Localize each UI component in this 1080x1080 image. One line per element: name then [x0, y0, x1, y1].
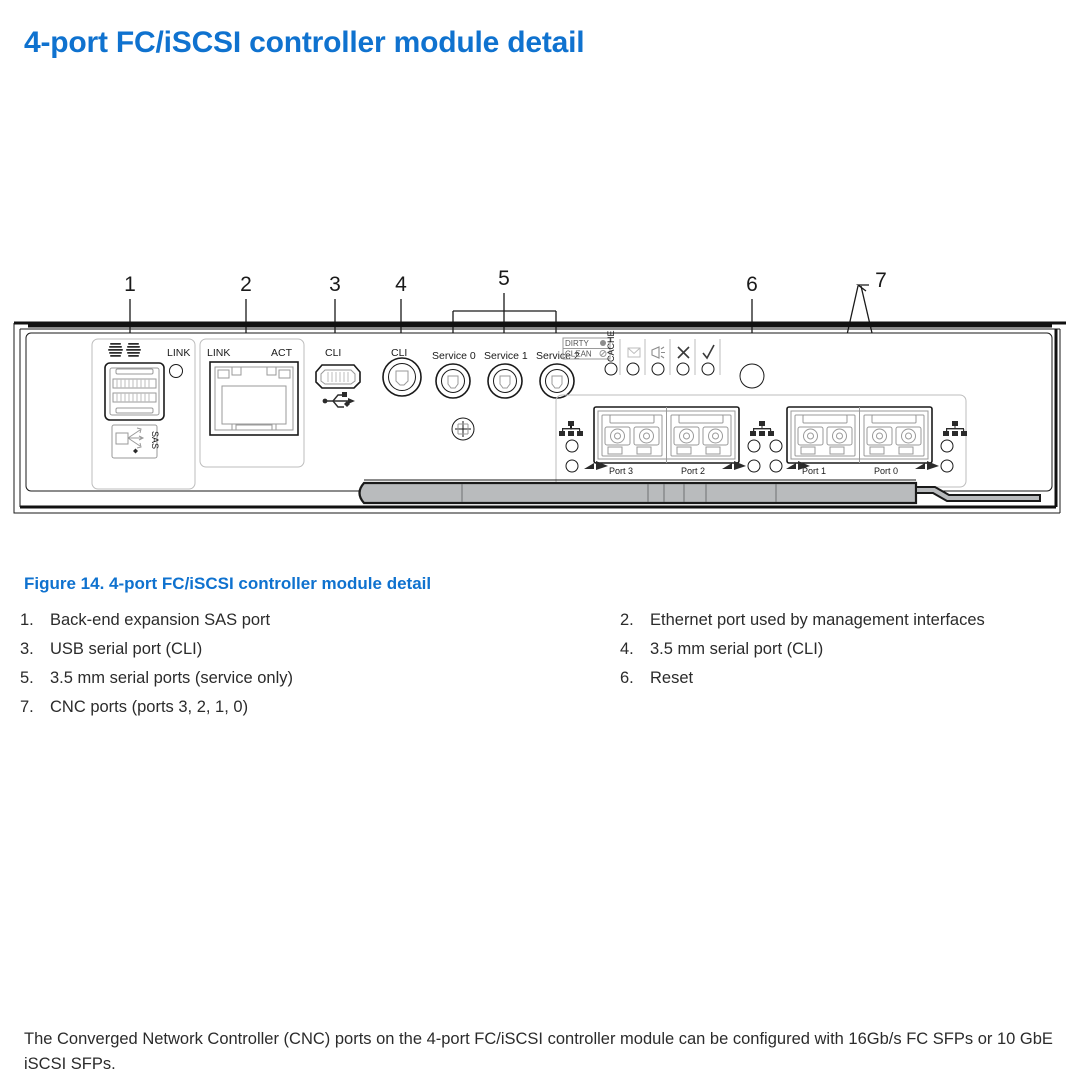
- callout-label-4: 4: [395, 273, 407, 296]
- legend-text: 3.5 mm serial ports (service only): [50, 664, 293, 693]
- cnc-port-3-label: Port 3: [609, 466, 633, 476]
- cnc-port-0-label: Port 0: [874, 466, 898, 476]
- list-item: 3. USB serial port (CLI): [20, 635, 600, 664]
- service-1-jack[interactable]: [488, 364, 522, 398]
- service-2-jack[interactable]: [540, 364, 574, 398]
- legend-column-right: 2. Ethernet port used by management inte…: [620, 606, 1080, 693]
- panel-screw-icon: [452, 418, 474, 440]
- callout-label-2: 2: [240, 273, 252, 296]
- cnc-port-1-label: Port 1: [802, 466, 826, 476]
- legend-text: Back-end expansion SAS port: [50, 606, 270, 635]
- legend-number: 6.: [620, 664, 650, 693]
- usb-cli-label: CLI: [325, 347, 341, 359]
- serial-cli-label: CLI: [391, 347, 407, 359]
- service-1-label: Service 1: [484, 350, 528, 362]
- figure-image: .ln { fill:none; stroke:#1a1a1a; stroke-…: [0, 255, 1080, 545]
- ethernet-act-label: ACT: [271, 347, 293, 359]
- legend-column-left: 1. Back-end expansion SAS port 3. USB se…: [20, 606, 600, 722]
- sas-badge-label: SAS: [150, 431, 160, 449]
- legend-text: 3.5 mm serial port (CLI): [650, 635, 823, 664]
- cnc-configuration-note: The Converged Network Controller (CNC) p…: [24, 1027, 1064, 1077]
- list-item: 2. Ethernet port used by management inte…: [620, 606, 1080, 635]
- cache-label: CACHE: [606, 330, 616, 362]
- cnc-sfp-cage-right[interactable]: [787, 407, 932, 463]
- controller-module-diagram: .ln { fill:none; stroke:#1a1a1a; stroke-…: [0, 255, 1080, 545]
- service-0-label: Service 0: [432, 350, 476, 362]
- callout-label-6: 6: [746, 273, 758, 296]
- list-item: 4. 3.5 mm serial port (CLI): [620, 635, 1080, 664]
- ethernet-rj45-connector[interactable]: [210, 362, 298, 435]
- callout-label-3: 3: [329, 273, 341, 296]
- legend-number: 4.: [620, 635, 650, 664]
- cnc-sfp-cage-left[interactable]: [594, 407, 739, 463]
- list-item: 1. Back-end expansion SAS port: [20, 606, 600, 635]
- legend-number: 7.: [20, 693, 50, 722]
- list-item: 6. Reset: [620, 664, 1080, 693]
- callout-label-5: 5: [498, 267, 510, 290]
- cache-clean-label: CLEAN: [565, 350, 592, 359]
- figure-caption: Figure 14. 4-port FC/iSCSI controller mo…: [24, 574, 431, 594]
- service-0-jack[interactable]: [436, 364, 470, 398]
- legend-text: USB serial port (CLI): [50, 635, 202, 664]
- legend-number: 1.: [20, 606, 50, 635]
- list-item: 5. 3.5 mm serial ports (service only): [20, 664, 600, 693]
- page-title: 4-port FC/iSCSI controller module detail: [24, 26, 584, 60]
- legend-text: Ethernet port used by management interfa…: [650, 606, 985, 635]
- legend-number: 2.: [620, 606, 650, 635]
- list-item: 7. CNC ports (ports 3, 2, 1, 0): [20, 693, 600, 722]
- callout-label-7: 7: [875, 269, 887, 292]
- cnc-port-2-label: Port 2: [681, 466, 705, 476]
- ethernet-link-label: LINK: [207, 347, 230, 359]
- serial-cli-jack[interactable]: [383, 358, 421, 396]
- usb-mini-connector[interactable]: [316, 365, 360, 388]
- legend-number: 5.: [20, 664, 50, 693]
- callout-label-1: 1: [124, 273, 136, 296]
- legend-number: 3.: [20, 635, 50, 664]
- sas-link-label: LINK: [167, 347, 190, 359]
- service-ports-group[interactable]: Service 0 Service 1 Service 2: [432, 350, 580, 398]
- legend-text: CNC ports (ports 3, 2, 1, 0): [50, 693, 248, 722]
- legend-text: Reset: [650, 664, 693, 693]
- cache-dirty-label: DIRTY: [565, 339, 590, 348]
- sas-port-connector[interactable]: [105, 363, 164, 420]
